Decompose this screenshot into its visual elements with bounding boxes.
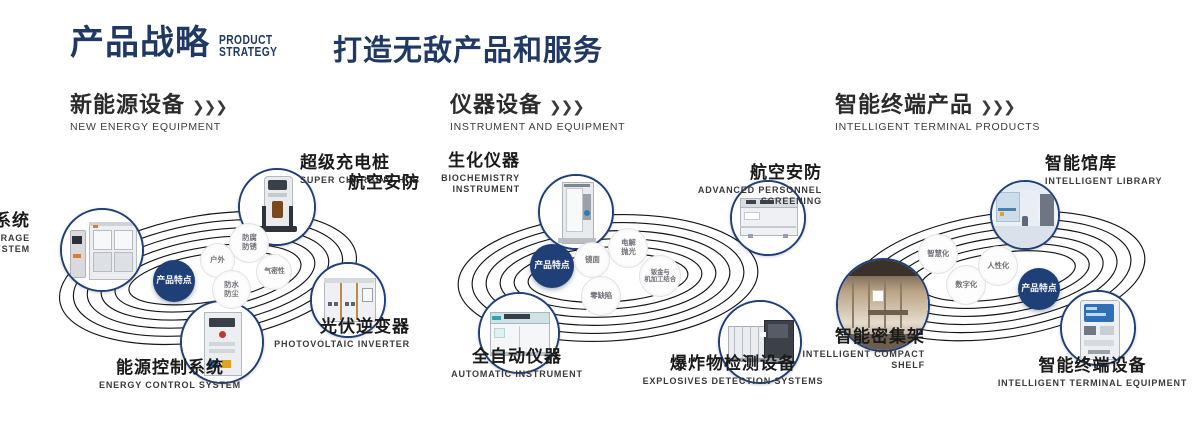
chevrons-icon: ❯❯❯ [192,98,227,116]
feature-label: 镜面 [585,256,600,264]
cluster-intelligent-terminal: 智能馆库 INTELLIGENT LIBRARY 智能密集架 INTELLIGE… [790,150,1200,400]
feature-label: 防腐防锈 [242,235,257,252]
feature-bubble-humanized: 人性化 [978,246,1018,286]
feature-bubble-mirror-finish: 镜面 [574,242,610,278]
label-biochemistry-instrument: 生化仪器 BIOCHEMISTRYINSTRUMENT [360,152,520,195]
section-title-cn: 新能源设备❯❯❯ [70,94,227,117]
feature-label: 数字化 [955,281,977,289]
section-title-cn: 智能终端产品❯❯❯ [835,94,1040,117]
feature-bubble-airtight: 气密性 [256,254,292,290]
terminal-kiosk-photo [1062,292,1134,364]
label-en: ENERGY CONTROL SYSTEM [30,380,310,391]
node-intelligent-library[interactable] [990,180,1060,250]
feature-label: 零缺陷 [590,292,612,300]
label-energy-control-system: 能源控制系统 ENERGY CONTROL SYSTEM [30,359,310,391]
label-energy-storage-system: 储能系统 ENERGY STORAGESYSTEM [0,212,30,255]
core-bubble-product-features: 产品特点 [153,260,195,302]
biochemistry-instrument-photo [540,176,612,248]
feature-label: 电解抛光 [621,240,636,257]
section-title-en: INTELLIGENT TERMINAL PRODUCTS [835,121,1040,133]
feature-label: 户外 [210,256,225,264]
page-title: 产品战略 PRODUCT STRATEGY [70,26,290,60]
chevrons-icon: ❯❯❯ [549,98,584,116]
chevrons-icon: ❯❯❯ [980,98,1015,116]
label-cn: 智能终端设备 [990,357,1195,376]
core-bubble-label: 产品特点 [156,276,191,286]
feature-bubble-zero-defect: 零缺陷 [581,276,621,316]
label-cn: 生化仪器 [360,152,520,171]
core-bubble-product-features: 产品特点 [1018,268,1060,310]
feature-label: 防水防尘 [224,281,239,298]
core-bubble-product-features: 产品特点 [530,244,574,288]
label-photovoltaic-inverter: 光伏逆变器 PHOTOVOLTAIC INVERTER [205,318,410,350]
label-intelligent-library: 智能馆库 INTELLIGENT LIBRARY [1045,155,1162,187]
feature-label: 智慧化 [927,250,949,258]
feature-label: 钣金与机加工结合 [644,269,676,284]
label-cn: 全自动仪器 [422,348,612,367]
section-header-new-energy: 新能源设备❯❯❯ NEW ENERGY EQUIPMENT [70,94,227,133]
label-en: AUTOMATIC INSTRUMENT [422,369,612,380]
label-cn: 智能馆库 [1045,155,1162,174]
feature-bubble-electropolishing: 电解抛光 [608,228,648,268]
feature-label: 气密性 [264,268,285,276]
core-bubble-label: 产品特点 [1021,284,1056,294]
label-automatic-instrument: 全自动仪器 AUTOMATIC INSTRUMENT [422,348,612,380]
label-cn: 储能系统 [0,212,30,231]
page-title-en-line2: STRATEGY [219,46,277,58]
feature-bubble-intelligent: 智慧化 [918,234,958,274]
node-energy-storage-system[interactable] [60,208,144,292]
section-title-en: NEW ENERGY EQUIPMENT [70,121,227,133]
section-title-cn: 仪器设备❯❯❯ [450,94,625,117]
cluster-instrument: 航空安防 生化仪器 BIOCHEMISTRYINSTRUMENT 航空安防 AD… [400,150,820,400]
label-en: PHOTOVOLTAIC INVERTER [205,339,410,350]
product-strategy-infographic: 产品战略 PRODUCT STRATEGY 打造无敌产品和服务 新能源设备❯❯❯… [0,0,1200,422]
section-title-en: INSTRUMENT AND EQUIPMENT [450,121,625,133]
label-terminal-kiosk: 智能终端设备 INTELLIGENT TERMINAL EQUIPMENT [990,357,1195,389]
intelligent-library-photo [992,182,1058,248]
feature-bubble-waterproof: 防水防尘 [212,270,251,309]
node-terminal-kiosk[interactable] [1060,290,1136,366]
label-en: INTELLIGENT LIBRARY [1045,176,1162,187]
section-header-instrument: 仪器设备❯❯❯ INSTRUMENT AND EQUIPMENT [450,94,625,133]
feature-bubble-sheetmetal-machining: 钣金与机加工结合 [639,255,681,297]
page-title-cn: 产品战略 [70,26,210,60]
label-en: INTELLIGENT COMPACTSHELF [760,349,925,372]
label-cn: 光伏逆变器 [205,318,410,337]
page-title-en: PRODUCT STRATEGY [219,34,277,58]
label-en: ENERGY STORAGESYSTEM [0,233,30,256]
label-en: INTELLIGENT TERMINAL EQUIPMENT [990,378,1195,389]
label-cn: 智能密集架 [760,328,925,347]
feature-label: 人性化 [987,262,1009,270]
energy-storage-cabinet-photo [62,210,142,290]
page-slogan: 打造无敌产品和服务 [333,36,603,65]
label-en: BIOCHEMISTRYINSTRUMENT [360,173,520,196]
label-cn: 能源控制系统 [30,359,310,378]
node-biochemistry-instrument[interactable] [538,174,614,250]
label-compact-shelf: 智能密集架 INTELLIGENT COMPACTSHELF [760,328,925,371]
section-header-intelligent-terminal: 智能终端产品❯❯❯ INTELLIGENT TERMINAL PRODUCTS [835,94,1040,133]
core-bubble-label: 产品特点 [534,261,569,271]
